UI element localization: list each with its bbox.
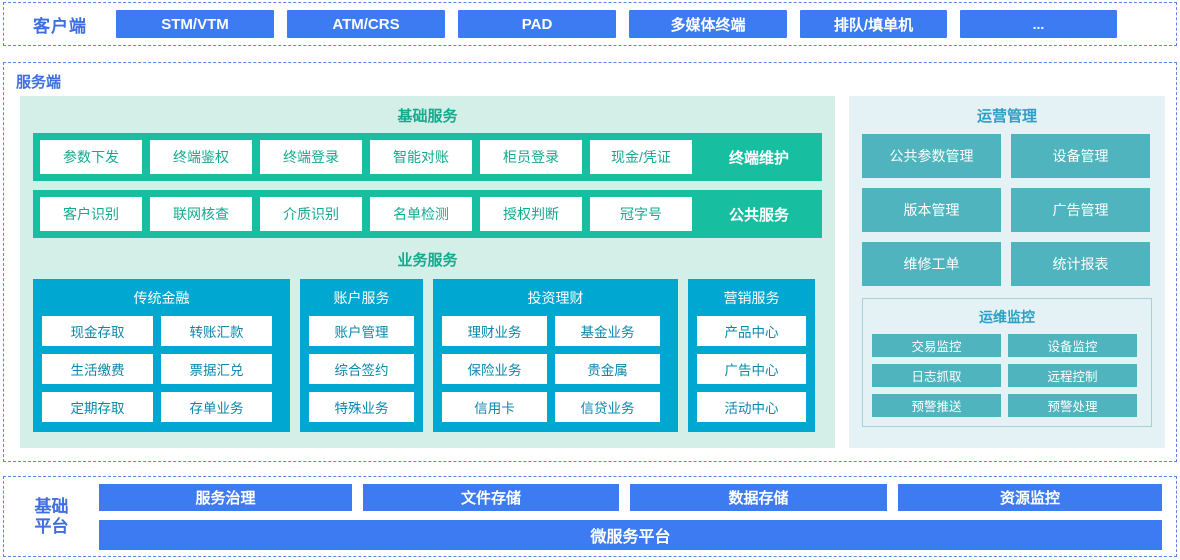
ops-item-ad-mgmt[interactable]: 广告管理 bbox=[1011, 188, 1150, 232]
basic-services-row-public: 客户识别 联网核查 介质识别 名单检测 授权判断 冠字号 公共服务 bbox=[33, 190, 822, 238]
biz-item-loan[interactable]: 信贷业务 bbox=[555, 392, 660, 422]
basic-item-online-check[interactable]: 联网核查 bbox=[150, 197, 252, 231]
client-tier: 客户端 STM/VTM ATM/CRS PAD 多媒体终端 排队/填单机 ... bbox=[3, 2, 1177, 46]
business-group-title: 传统金融 bbox=[42, 286, 281, 316]
mon-item-remote-control[interactable]: 远程控制 bbox=[1008, 364, 1137, 387]
biz-item-certificate[interactable]: 存单业务 bbox=[161, 392, 272, 422]
monitoring-panel: 运维监控 交易监控 设备监控 日志抓取 远程控制 预警推送 预警处理 bbox=[862, 298, 1152, 427]
mon-item-alert-push[interactable]: 预警推送 bbox=[872, 394, 1001, 417]
biz-item-insurance[interactable]: 保险业务 bbox=[442, 354, 547, 384]
client-item-stm-vtm[interactable]: STM/VTM bbox=[116, 10, 274, 38]
platform-label-line1: 基础 bbox=[4, 497, 99, 517]
client-tier-items: STM/VTM ATM/CRS PAD 多媒体终端 排队/填单机 ... bbox=[116, 10, 1176, 38]
biz-item-special-business[interactable]: 特殊业务 bbox=[309, 392, 414, 422]
basic-item-serial-number[interactable]: 冠字号 bbox=[590, 197, 692, 231]
mon-item-log-capture[interactable]: 日志抓取 bbox=[872, 364, 1001, 387]
mon-item-transaction-monitor[interactable]: 交易监控 bbox=[872, 334, 1001, 357]
platform-item-file-storage[interactable]: 文件存储 bbox=[363, 484, 619, 511]
platform-tier: 基础 平台 服务治理 文件存储 数据存储 资源监控 微服务平台 bbox=[3, 476, 1177, 557]
biz-item-product-center[interactable]: 产品中心 bbox=[697, 316, 806, 346]
biz-item-bill-exchange[interactable]: 票据汇兑 bbox=[161, 354, 272, 384]
platform-label-line2: 平台 bbox=[4, 517, 99, 537]
biz-item-ad-center[interactable]: 广告中心 bbox=[697, 354, 806, 384]
biz-item-precious-metal[interactable]: 贵金属 bbox=[555, 354, 660, 384]
business-group-cells: 现金存取 转账汇款 生活缴费 票据汇兑 定期存取 存单业务 bbox=[42, 316, 281, 422]
business-group-cells: 产品中心 广告中心 活动中心 bbox=[697, 316, 806, 422]
basic-item-auth-judge[interactable]: 授权判断 bbox=[480, 197, 582, 231]
basic-item-terminal-auth[interactable]: 终端鉴权 bbox=[150, 140, 252, 174]
platform-tier-label: 基础 平台 bbox=[4, 497, 99, 536]
biz-item-comprehensive-signing[interactable]: 综合签约 bbox=[309, 354, 414, 384]
business-groups: 传统金融 现金存取 转账汇款 生活缴费 票据汇兑 定期存取 存单业务 账户服务 bbox=[33, 279, 822, 444]
biz-item-wealth-mgmt[interactable]: 理财业务 bbox=[442, 316, 547, 346]
biz-item-transfer[interactable]: 转账汇款 bbox=[161, 316, 272, 346]
basic-item-param-push[interactable]: 参数下发 bbox=[40, 140, 142, 174]
biz-item-account-mgmt[interactable]: 账户管理 bbox=[309, 316, 414, 346]
client-item-more[interactable]: ... bbox=[960, 10, 1117, 38]
ops-item-public-param-mgmt[interactable]: 公共参数管理 bbox=[862, 134, 1001, 178]
client-tier-label: 客户端 bbox=[4, 12, 116, 37]
biz-item-fund[interactable]: 基金业务 bbox=[555, 316, 660, 346]
ops-item-device-mgmt[interactable]: 设备管理 bbox=[1011, 134, 1150, 178]
basic-item-teller-login[interactable]: 柜员登录 bbox=[480, 140, 582, 174]
business-group-title: 账户服务 bbox=[309, 286, 414, 316]
business-services-title: 业务服务 bbox=[33, 247, 822, 279]
basic-item-list-check[interactable]: 名单检测 bbox=[370, 197, 472, 231]
basic-row-tag-public-service: 公共服务 bbox=[700, 204, 822, 225]
ops-item-statistics-report[interactable]: 统计报表 bbox=[1011, 242, 1150, 286]
biz-item-cash-deposit[interactable]: 现金存取 bbox=[42, 316, 153, 346]
basic-item-terminal-login[interactable]: 终端登录 bbox=[260, 140, 362, 174]
basic-row-tag-terminal-maintenance: 终端维护 bbox=[700, 147, 822, 168]
monitoring-grid: 交易监控 设备监控 日志抓取 远程控制 预警推送 预警处理 bbox=[872, 334, 1142, 417]
ops-item-version-mgmt[interactable]: 版本管理 bbox=[862, 188, 1001, 232]
ops-item-repair-order[interactable]: 维修工单 bbox=[862, 242, 1001, 286]
basic-services-title: 基础服务 bbox=[20, 96, 835, 133]
business-group-title: 投资理财 bbox=[442, 286, 669, 316]
basic-services-row-terminal: 参数下发 终端鉴权 终端登录 智能对账 柜员登录 现金/凭证 终端维护 bbox=[33, 133, 822, 181]
operations-grid: 公共参数管理 设备管理 版本管理 广告管理 维修工单 统计报表 bbox=[849, 134, 1165, 286]
service-column: 基础服务 参数下发 终端鉴权 终端登录 智能对账 柜员登录 现金/凭证 终端维护… bbox=[20, 96, 835, 448]
client-item-pad[interactable]: PAD bbox=[458, 10, 616, 38]
platform-items: 服务治理 文件存储 数据存储 资源监控 微服务平台 bbox=[99, 484, 1176, 550]
business-group-investment: 投资理财 理财业务 基金业务 保险业务 贵金属 信用卡 信贷业务 bbox=[433, 279, 678, 432]
business-group-marketing: 营销服务 产品中心 广告中心 活动中心 bbox=[688, 279, 815, 432]
biz-item-time-deposit[interactable]: 定期存取 bbox=[42, 392, 153, 422]
basic-item-smart-recon[interactable]: 智能对账 bbox=[370, 140, 472, 174]
server-tier: 服务端 基础服务 参数下发 终端鉴权 终端登录 智能对账 柜员登录 现金/凭证 … bbox=[3, 62, 1177, 462]
operations-panel: 运营管理 公共参数管理 设备管理 版本管理 广告管理 维修工单 统计报表 运维监… bbox=[849, 96, 1165, 448]
platform-row-top: 服务治理 文件存储 数据存储 资源监控 bbox=[99, 484, 1162, 511]
basic-item-media-id[interactable]: 介质识别 bbox=[260, 197, 362, 231]
business-group-title: 营销服务 bbox=[697, 286, 806, 316]
monitoring-title: 运维监控 bbox=[872, 305, 1142, 334]
operations-title: 运营管理 bbox=[849, 96, 1165, 134]
platform-item-service-governance[interactable]: 服务治理 bbox=[99, 484, 352, 511]
basic-item-customer-id[interactable]: 客户识别 bbox=[40, 197, 142, 231]
client-item-multimedia[interactable]: 多媒体终端 bbox=[629, 10, 787, 38]
platform-item-resource-monitor[interactable]: 资源监控 bbox=[898, 484, 1162, 511]
client-item-queue[interactable]: 排队/填单机 bbox=[800, 10, 947, 38]
business-services: 业务服务 传统金融 现金存取 转账汇款 生活缴费 票据汇兑 定期存取 存单业务 bbox=[33, 247, 822, 444]
platform-item-microservice-platform[interactable]: 微服务平台 bbox=[99, 520, 1162, 550]
server-tier-label: 服务端 bbox=[16, 71, 61, 92]
basic-item-cash-voucher[interactable]: 现金/凭证 bbox=[590, 140, 692, 174]
architecture-diagram: 客户端 STM/VTM ATM/CRS PAD 多媒体终端 排队/填单机 ...… bbox=[0, 0, 1180, 560]
business-group-cells: 账户管理 综合签约 特殊业务 bbox=[309, 316, 414, 422]
platform-item-data-storage[interactable]: 数据存储 bbox=[630, 484, 887, 511]
biz-item-activity-center[interactable]: 活动中心 bbox=[697, 392, 806, 422]
biz-item-credit-card[interactable]: 信用卡 bbox=[442, 392, 547, 422]
client-item-atm-crs[interactable]: ATM/CRS bbox=[287, 10, 445, 38]
business-group-traditional-finance: 传统金融 现金存取 转账汇款 生活缴费 票据汇兑 定期存取 存单业务 bbox=[33, 279, 290, 432]
mon-item-device-monitor[interactable]: 设备监控 bbox=[1008, 334, 1137, 357]
business-group-account-service: 账户服务 账户管理 综合签约 特殊业务 bbox=[300, 279, 423, 432]
mon-item-alert-handling[interactable]: 预警处理 bbox=[1008, 394, 1137, 417]
business-group-cells: 理财业务 基金业务 保险业务 贵金属 信用卡 信贷业务 bbox=[442, 316, 669, 422]
biz-item-utility-payment[interactable]: 生活缴费 bbox=[42, 354, 153, 384]
